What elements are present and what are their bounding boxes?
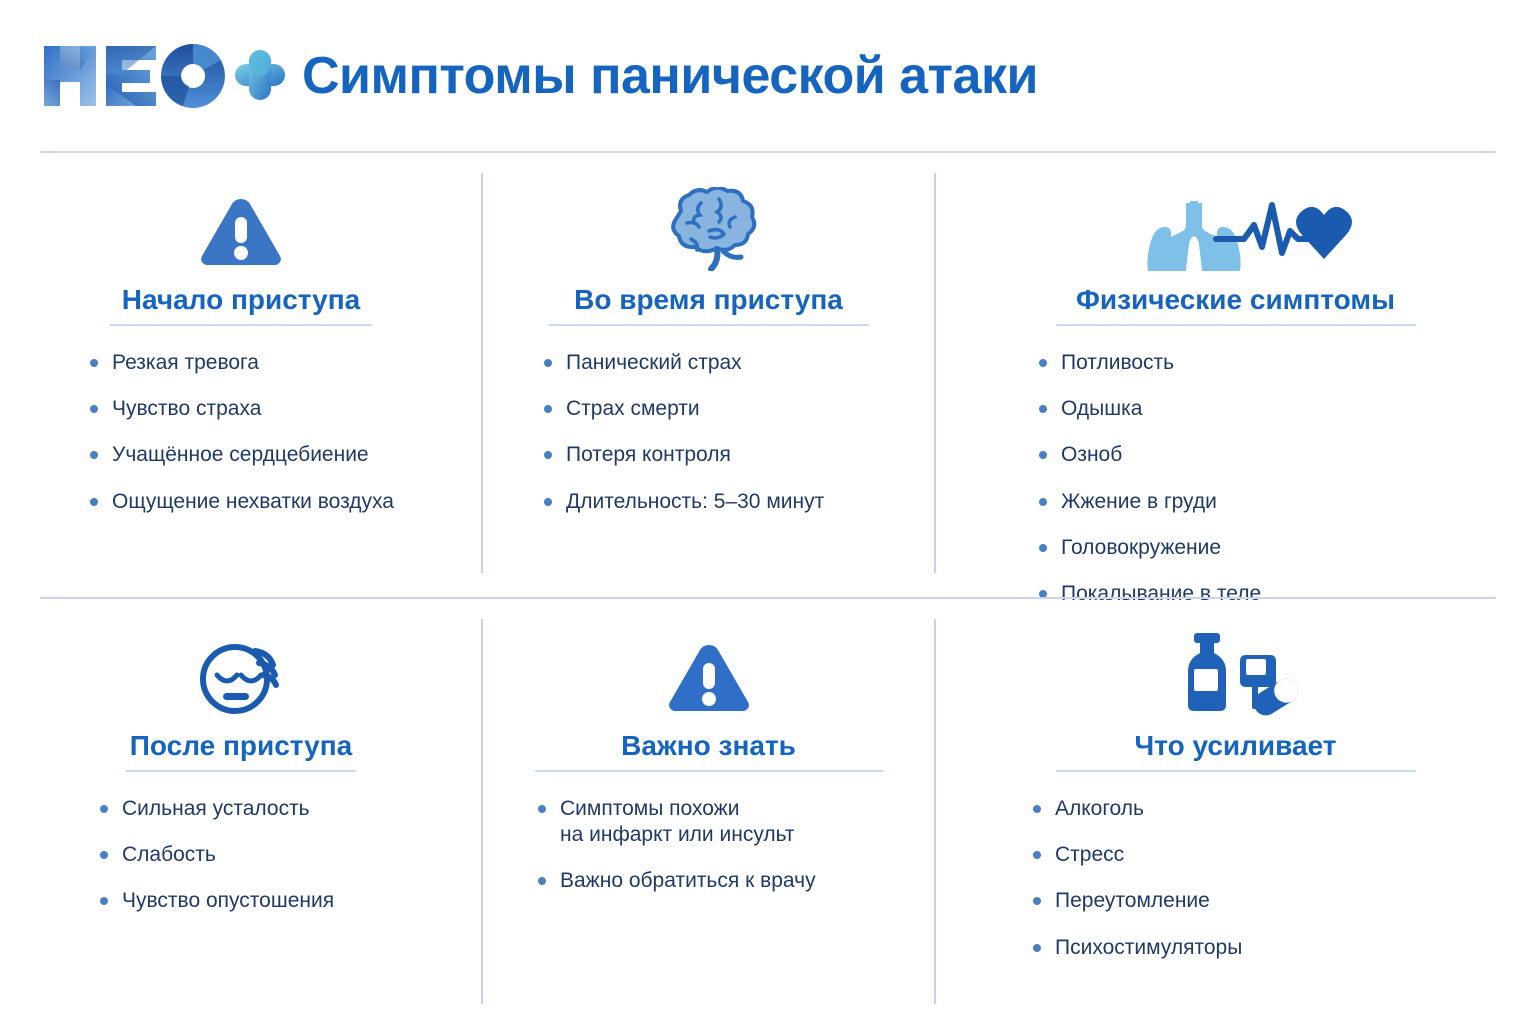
warning-triangle-icon <box>0 179 482 271</box>
card-fizicheskie-simptomy: Физические симптомы Потливость Одышка Оз… <box>935 153 1536 597</box>
list-item: Симптомы похожи на инфаркт или инсульт <box>534 796 935 849</box>
list-item: Переутомление <box>1029 888 1536 914</box>
symptom-list: Резкая тревога Чувство страха Учащённое … <box>86 350 482 515</box>
card-header: После приступа <box>0 731 482 772</box>
page-title: Симптомы панической атаки <box>302 50 1038 102</box>
list-item: Слабость <box>96 842 482 868</box>
card-title: Важно знать <box>621 731 796 762</box>
card-title: После приступа <box>130 731 352 762</box>
card-nachalo-pristupa: Начало приступа Резкая тревога Чувство с… <box>0 153 482 597</box>
neo-plus-logo <box>38 40 288 112</box>
card-header: Во время приступа <box>482 285 935 326</box>
list-item: Длительность: 5–30 минут <box>540 489 935 515</box>
list-item: Учащённое сердцебиение <box>86 442 482 468</box>
list-item: Головокружение <box>1035 535 1536 561</box>
list-item: Панический страх <box>540 350 935 376</box>
card-title: Физические симптомы <box>1076 285 1395 316</box>
page-header: Симптомы панической атаки <box>0 0 1536 152</box>
list-item: Резкая тревога <box>86 350 482 376</box>
lungs-heartbeat-heart-icon <box>935 179 1536 271</box>
card-title-underline <box>1056 324 1416 326</box>
card-header: Начало приступа <box>0 285 482 326</box>
card-title-underline <box>126 770 356 772</box>
list-item: Важно обратиться к врачу <box>534 868 935 894</box>
list-item: Ощущение нехватки воздуха <box>86 489 482 515</box>
card-title: Начало приступа <box>122 285 361 316</box>
card-vo-vremya-pristupa: Во время приступа Панический страх Страх… <box>482 153 935 597</box>
list-item: Стресс <box>1029 842 1536 868</box>
symptom-list: Симптомы похожи на инфаркт или инсульт В… <box>534 796 935 895</box>
tired-face-icon <box>0 625 482 717</box>
list-item-line-2: на инфаркт или инсульт <box>560 822 935 848</box>
card-header: Что усиливает <box>935 731 1536 772</box>
card-title-underline <box>535 770 883 772</box>
list-item: Сильная усталость <box>96 796 482 822</box>
list-item: Чувство страха <box>86 396 482 422</box>
warning-triangle-icon <box>482 625 935 717</box>
symptom-list: Потливость Одышка Озноб Жжение в груди Г… <box>1035 350 1536 608</box>
cards-grid: Начало приступа Резкая тревога Чувство с… <box>0 153 1536 1024</box>
list-item: Чувство опустошения <box>96 888 482 914</box>
list-item: Страх смерти <box>540 396 935 422</box>
cards-row-top: Начало приступа Резкая тревога Чувство с… <box>0 153 1536 597</box>
card-title-underline <box>1056 770 1416 772</box>
medicine-bottle-pills-icon <box>935 625 1536 717</box>
list-item: Потеря контроля <box>540 442 935 468</box>
card-header: Физические симптомы <box>935 285 1536 326</box>
list-item: Озноб <box>1035 442 1536 468</box>
list-item: Психостимуляторы <box>1029 935 1536 961</box>
symptom-list: Алкоголь Стресс Переутомление Психостиму… <box>1029 796 1536 961</box>
cards-row-bottom: После приступа Сильная усталость Слабост… <box>0 599 1536 1024</box>
list-item: Алкоголь <box>1029 796 1536 822</box>
brain-icon <box>482 179 935 271</box>
card-title-underline <box>549 324 869 326</box>
card-title: Во время приступа <box>574 285 843 316</box>
card-header: Важно знать <box>482 731 935 772</box>
list-item: Одышка <box>1035 396 1536 422</box>
card-vazhno-znat: Важно знать Симптомы похожи на инфаркт и… <box>482 599 935 1024</box>
card-chto-usilivaet: Что усиливает Алкоголь Стресс Переутомле… <box>935 599 1536 1024</box>
card-title-underline <box>110 324 372 326</box>
symptom-list: Панический страх Страх смерти Потеря кон… <box>540 350 935 515</box>
list-item-line-1: Симптомы похожи <box>560 796 935 822</box>
symptom-list: Сильная усталость Слабость Чувство опуст… <box>96 796 482 915</box>
list-item: Потливость <box>1035 350 1536 376</box>
card-title: Что усиливает <box>1135 731 1337 762</box>
card-posle-pristupa: После приступа Сильная усталость Слабост… <box>0 599 482 1024</box>
list-item: Жжение в груди <box>1035 489 1536 515</box>
